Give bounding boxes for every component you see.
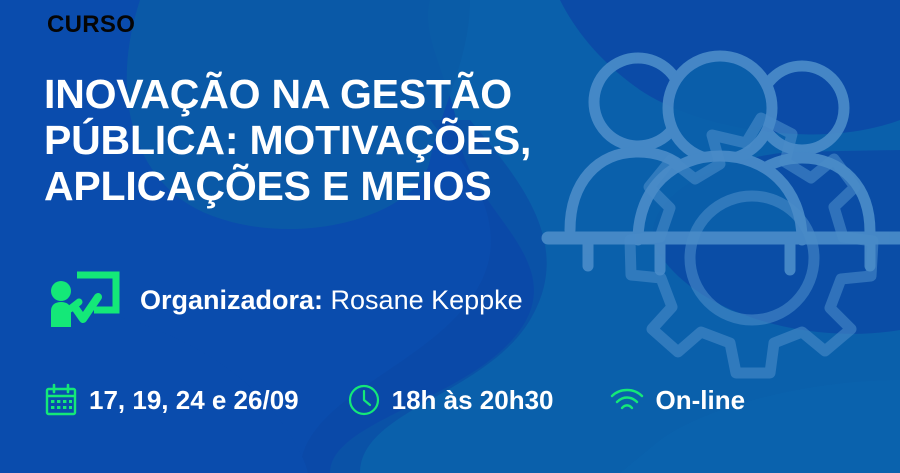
title-line-1: INOVAÇÃO NA GESTÃO [44, 72, 664, 118]
organizer-label: Organizadora: [140, 285, 323, 315]
title-line-3: APLICAÇÕES E MEIOS [44, 164, 664, 210]
meta-item-mode: On-line [609, 385, 746, 415]
meta-item-dates: 17, 19, 24 e 26/09 [44, 383, 299, 417]
page-title: INOVAÇÃO NA GESTÃO PÚBLICA: MOTIVAÇÕES, … [44, 72, 664, 210]
organizer-row: Organizadora: Rosane Keppke [46, 265, 523, 335]
mode-value: On-line [656, 387, 746, 413]
kicker-label: CURSO [47, 13, 135, 37]
course-banner: CURSO INOVAÇÃO NA GESTÃO PÚBLICA: MOTIVA… [0, 0, 900, 473]
calendar-icon [44, 383, 78, 417]
presenter-board-icon [46, 269, 120, 331]
organizer-name: Rosane Keppke [331, 285, 523, 315]
organizer-text: Organizadora: Rosane Keppke [140, 287, 523, 314]
meta-item-time: 18h às 20h30 [347, 383, 554, 417]
wifi-icon [609, 385, 645, 415]
meta-row: 17, 19, 24 e 26/09 18h às 20h30 [44, 383, 745, 417]
dates-value: 17, 19, 24 e 26/09 [89, 387, 299, 413]
time-value: 18h às 20h30 [392, 387, 554, 413]
title-line-2: PÚBLICA: MOTIVAÇÕES, [44, 118, 664, 164]
clock-icon [347, 383, 381, 417]
